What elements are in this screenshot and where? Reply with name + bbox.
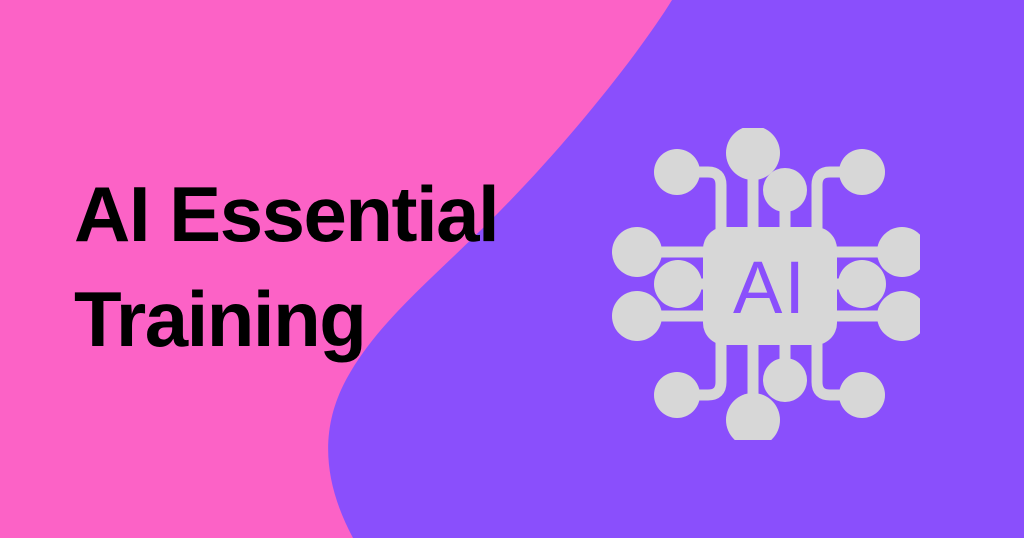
node-top-center-mid-icon xyxy=(763,168,807,212)
node-left-upper-icon xyxy=(612,227,662,277)
node-bottom-center-mid-icon xyxy=(763,358,807,402)
node-right-lower-icon xyxy=(877,291,920,341)
node-left-lower-icon xyxy=(612,291,662,341)
node-right-middle-icon xyxy=(838,260,886,308)
ai-essential-training-banner: AI Essential Training xyxy=(0,0,1024,538)
ai-chip-illustration: AI xyxy=(608,128,920,440)
node-bottom-right-small-icon xyxy=(839,372,885,418)
node-right-upper-icon xyxy=(877,227,920,277)
node-bottom-left-small-icon xyxy=(654,372,700,418)
ai-chip-icon: AI xyxy=(608,128,920,440)
node-top-left-small-icon xyxy=(654,149,700,195)
node-bottom-center-large-icon xyxy=(726,393,780,440)
node-left-middle-icon xyxy=(654,260,702,308)
chip-ai-label: AI xyxy=(733,246,807,329)
node-top-right-small-icon xyxy=(839,149,885,195)
node-top-center-large-icon xyxy=(726,128,780,180)
